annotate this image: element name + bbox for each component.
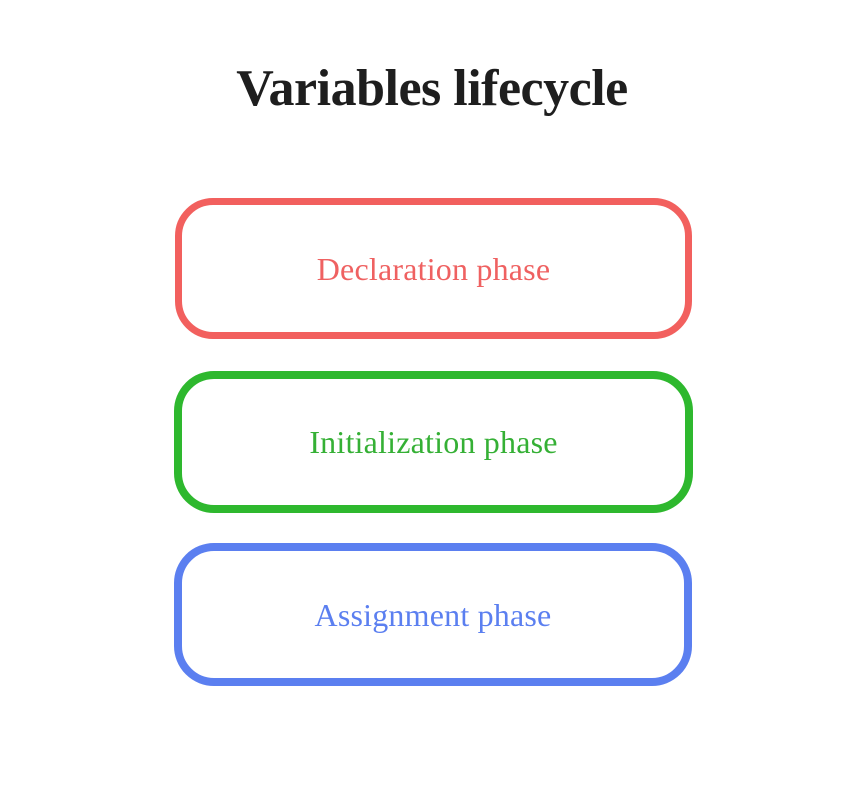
diagram-canvas: Variables lifecycle Declaration phase In… xyxy=(0,0,864,807)
phase-stack: Declaration phase Initialization phase A… xyxy=(0,0,864,807)
phase-label-initialization: Initialization phase xyxy=(309,426,557,458)
phase-box-assignment: Assignment phase xyxy=(174,543,692,686)
phase-box-initialization: Initialization phase xyxy=(174,371,693,513)
phase-label-declaration: Declaration phase xyxy=(317,253,551,285)
phase-label-assignment: Assignment phase xyxy=(315,599,552,631)
phase-box-declaration: Declaration phase xyxy=(175,198,692,339)
